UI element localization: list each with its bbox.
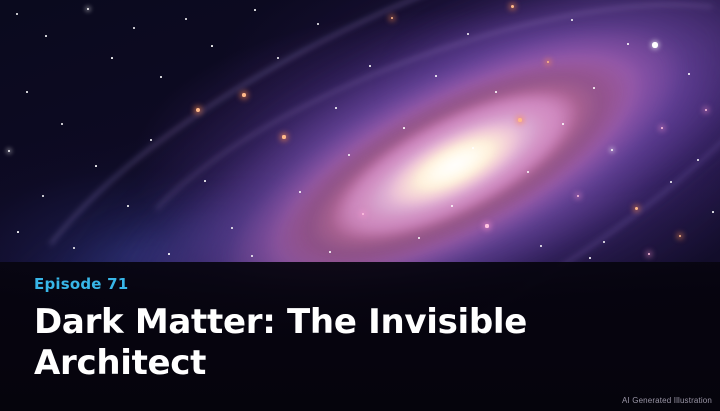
star-24 — [299, 191, 301, 193]
star-43 — [562, 123, 564, 125]
star-6 — [185, 18, 187, 20]
star-27 — [348, 154, 350, 156]
star-49 — [627, 43, 629, 45]
star-10 — [61, 123, 63, 125]
star-38 — [495, 91, 497, 93]
star-14 — [127, 205, 129, 207]
star-48 — [611, 149, 613, 151]
star-63 — [251, 255, 253, 257]
star-53 — [670, 181, 672, 183]
star-39 — [511, 5, 514, 8]
star-8 — [211, 45, 213, 47]
star-60 — [589, 257, 591, 259]
star-52 — [661, 127, 664, 130]
star-1 — [45, 35, 47, 37]
star-17 — [150, 139, 152, 141]
star-30 — [391, 17, 394, 20]
star-21 — [254, 9, 256, 11]
image-credit-label: AI Generated Illustration — [622, 396, 712, 405]
episode-cover-card: Episode 71 Dark Matter: The Invisible Ar… — [0, 0, 720, 411]
star-59 — [648, 253, 650, 255]
star-19 — [231, 227, 233, 229]
star-61 — [518, 118, 522, 122]
star-51 — [652, 42, 657, 47]
star-47 — [603, 241, 605, 243]
star-41 — [540, 245, 542, 247]
star-9 — [26, 91, 28, 93]
episode-title: Dark Matter: The Invisible Architect — [34, 302, 634, 384]
star-29 — [369, 65, 371, 67]
star-5 — [160, 76, 162, 78]
star-55 — [688, 73, 690, 75]
star-23 — [282, 135, 285, 138]
star-20 — [242, 93, 246, 97]
star-35 — [467, 33, 469, 35]
star-25 — [317, 23, 319, 25]
star-31 — [403, 127, 405, 129]
star-46 — [593, 87, 595, 89]
star-3 — [111, 57, 113, 59]
star-50 — [635, 207, 638, 210]
star-2 — [87, 8, 89, 10]
star-58 — [712, 211, 714, 213]
star-45 — [577, 195, 580, 198]
star-0 — [16, 13, 18, 15]
star-26 — [335, 107, 337, 109]
star-7 — [196, 108, 201, 113]
star-13 — [42, 195, 44, 197]
star-11 — [8, 150, 11, 153]
star-28 — [362, 213, 364, 215]
caption-overlay: Episode 71 Dark Matter: The Invisible Ar… — [0, 262, 720, 411]
star-36 — [472, 147, 474, 149]
star-44 — [571, 19, 573, 21]
star-57 — [705, 109, 707, 111]
star-16 — [73, 247, 75, 249]
star-42 — [547, 61, 550, 64]
star-34 — [451, 205, 453, 207]
star-64 — [168, 253, 170, 255]
star-15 — [17, 231, 19, 233]
star-56 — [697, 159, 699, 161]
star-4 — [133, 27, 135, 29]
star-37 — [485, 224, 488, 227]
star-32 — [418, 237, 420, 239]
star-40 — [527, 171, 529, 173]
episode-number-label: Episode 71 — [34, 276, 686, 293]
star-33 — [435, 75, 437, 77]
star-54 — [679, 235, 682, 238]
star-12 — [95, 165, 97, 167]
star-22 — [277, 57, 279, 59]
star-18 — [204, 180, 206, 182]
star-62 — [329, 251, 331, 253]
